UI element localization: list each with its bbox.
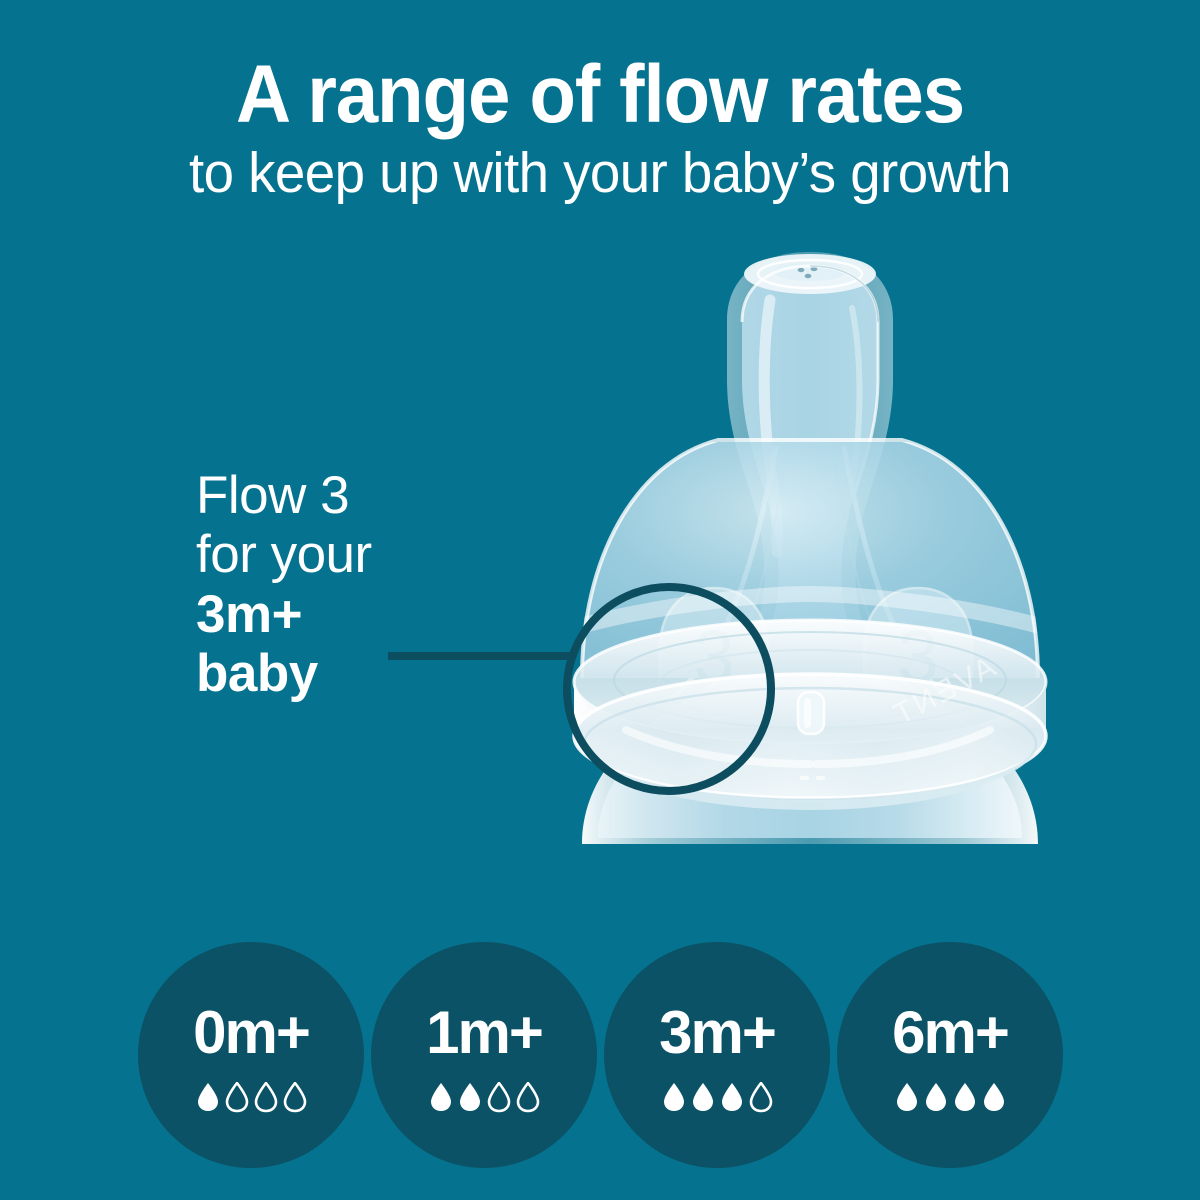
drop-icon-filled [720, 1082, 744, 1113]
age-badge-label: 6m+ [892, 1003, 1008, 1063]
flow-drop-meter [196, 1079, 307, 1113]
drop-icon-empty [516, 1082, 540, 1113]
drop-icon-filled [458, 1082, 482, 1113]
drop-icon-empty [254, 1082, 278, 1113]
age-badge-row: 0m+1m+3m+6m+ [138, 942, 1064, 1170]
callout-line-1: Flow 3 [196, 466, 576, 525]
age-badge-0mplus[interactable]: 0m+ [138, 942, 364, 1168]
age-badge-label: 0m+ [193, 1003, 309, 1063]
drop-icon-empty [749, 1082, 773, 1113]
promo-image: A range of flow rates to keep up with yo… [0, 0, 1200, 1200]
flow-drop-meter [662, 1079, 773, 1113]
drop-icon-filled [429, 1082, 453, 1113]
drop-icon-filled [196, 1082, 220, 1113]
callout-line-3: 3m+ [196, 585, 576, 644]
callout-line-2: for your [196, 525, 576, 584]
drop-icon-filled [953, 1082, 977, 1113]
callout-highlight-ring [563, 583, 775, 795]
age-badge-1mplus[interactable]: 1m+ [371, 942, 597, 1168]
drop-icon-filled [924, 1082, 948, 1113]
flow-drop-meter [895, 1079, 1006, 1113]
age-badge-label: 3m+ [659, 1003, 775, 1063]
drop-icon-empty [225, 1082, 249, 1113]
age-badge-3mplus[interactable]: 3m+ [604, 942, 830, 1168]
drop-icon-empty [283, 1082, 307, 1113]
flow-drop-meter [429, 1079, 540, 1113]
callout-text-block: Flow 3 for your 3m+ baby [196, 466, 576, 703]
drop-icon-filled [982, 1082, 1006, 1113]
drop-icon-filled [662, 1082, 686, 1113]
page-subtitle: to keep up with your baby’s growth [24, 143, 1176, 205]
age-badge-6mplus[interactable]: 6m+ [837, 942, 1063, 1168]
header-block: A range of flow rates to keep up with yo… [0, 52, 1200, 205]
drop-icon-empty [487, 1082, 511, 1113]
drop-icon-filled [691, 1082, 715, 1113]
anti-colic-valve-nub [798, 692, 824, 734]
age-badge-label: 1m+ [426, 1003, 542, 1063]
callout-line-4: baby [196, 644, 576, 703]
drop-icon-filled [895, 1082, 919, 1113]
page-title: A range of flow rates [42, 52, 1158, 137]
